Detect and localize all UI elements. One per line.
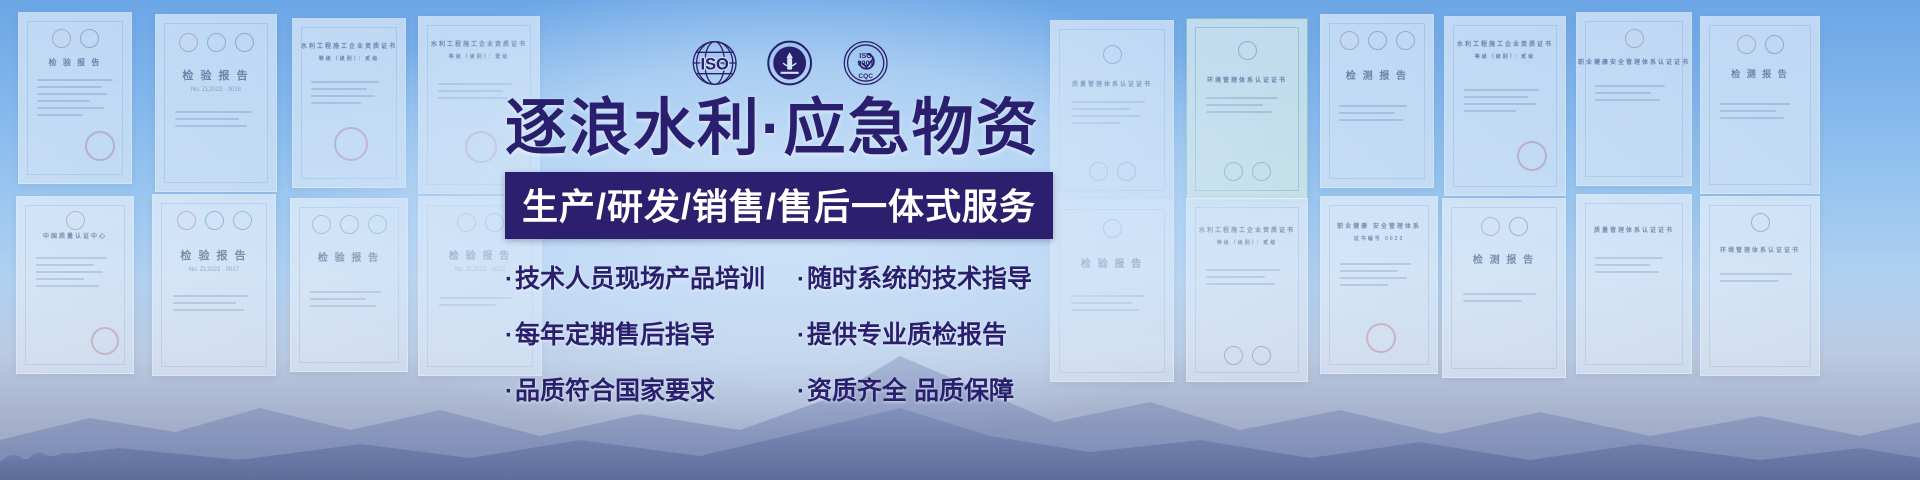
certification-badge-row: ISO ISO 9001 CQC xyxy=(690,32,890,94)
banner-text-block: 逐浪水利·应急物资 生产/研发/销售/售后一体式服务 ·技术人员现场产品培训 ·… xyxy=(505,96,1125,407)
certificate-card: 检 验 报 告 No. ZL2023 · 0016 xyxy=(155,14,277,192)
bullet-dot-icon: · xyxy=(797,266,805,293)
bullet-dot-icon: · xyxy=(505,322,513,349)
certificate-card: 检 验 报 告 xyxy=(18,12,132,184)
certificate-card: 检 测 报 告 xyxy=(1320,14,1434,188)
list-item: ·每年定期售后指导 xyxy=(505,315,783,351)
promotional-banner: 检 验 报 告 检 验 报 告 No. ZL2023 · 0016 水利工程施工… xyxy=(0,0,1920,480)
list-item-label: 随时系统的技术指导 xyxy=(807,265,1032,293)
bullet-dot-icon: · xyxy=(797,322,805,349)
list-item: ·技术人员现场产品培训 xyxy=(505,259,783,295)
bullet-dot-icon: · xyxy=(505,266,513,293)
bullet-dot-icon: · xyxy=(505,378,513,405)
list-item: ·随时系统的技术指导 xyxy=(797,259,1047,295)
certificate-card: 职业健康安全管理体系认证证书 xyxy=(1576,12,1692,186)
list-item: ·品质符合国家要求 xyxy=(505,371,783,407)
certificate-card: 环境管理体系认证证书 xyxy=(1186,18,1308,200)
certificate-card: 检 测 报 告 xyxy=(1700,16,1820,194)
banner-headline: 逐浪水利·应急物资 xyxy=(505,96,1125,161)
banner-subtitle-bar: 生产/研发/销售/售后一体式服务 xyxy=(505,172,1053,239)
list-item: ·资质齐全 品质保障 xyxy=(797,371,1047,407)
certificate-card: 水利工程施工企业资质证书 等级（级别）：贰级 xyxy=(292,18,406,188)
list-item: ·提供专业质检报告 xyxy=(797,315,1047,351)
list-item-label: 提供专业质检报告 xyxy=(807,321,1007,349)
list-item-label: 每年定期售后指导 xyxy=(515,321,715,349)
service-feature-list: ·技术人员现场产品培训 ·随时系统的技术指导 ·每年定期售后指导 ·提供专业质检… xyxy=(505,259,1125,407)
iso-9001-cqc-badge-icon: ISO 9001 CQC xyxy=(841,37,890,89)
svg-text:ISO: ISO xyxy=(701,56,730,74)
svg-text:CQC: CQC xyxy=(858,73,873,80)
certification-emblem-icon xyxy=(765,37,814,89)
list-item-label: 技术人员现场产品培训 xyxy=(515,265,765,293)
certificate-card: 水利工程施工企业资质证书 等级（级别）：贰级 xyxy=(1444,16,1566,196)
iso-globe-badge-icon: ISO xyxy=(690,37,739,89)
list-item-label: 资质齐全 品质保障 xyxy=(807,377,1014,405)
svg-text:9001: 9001 xyxy=(857,58,873,67)
list-item-label: 品质符合国家要求 xyxy=(515,377,715,405)
bullet-dot-icon: · xyxy=(797,378,805,405)
